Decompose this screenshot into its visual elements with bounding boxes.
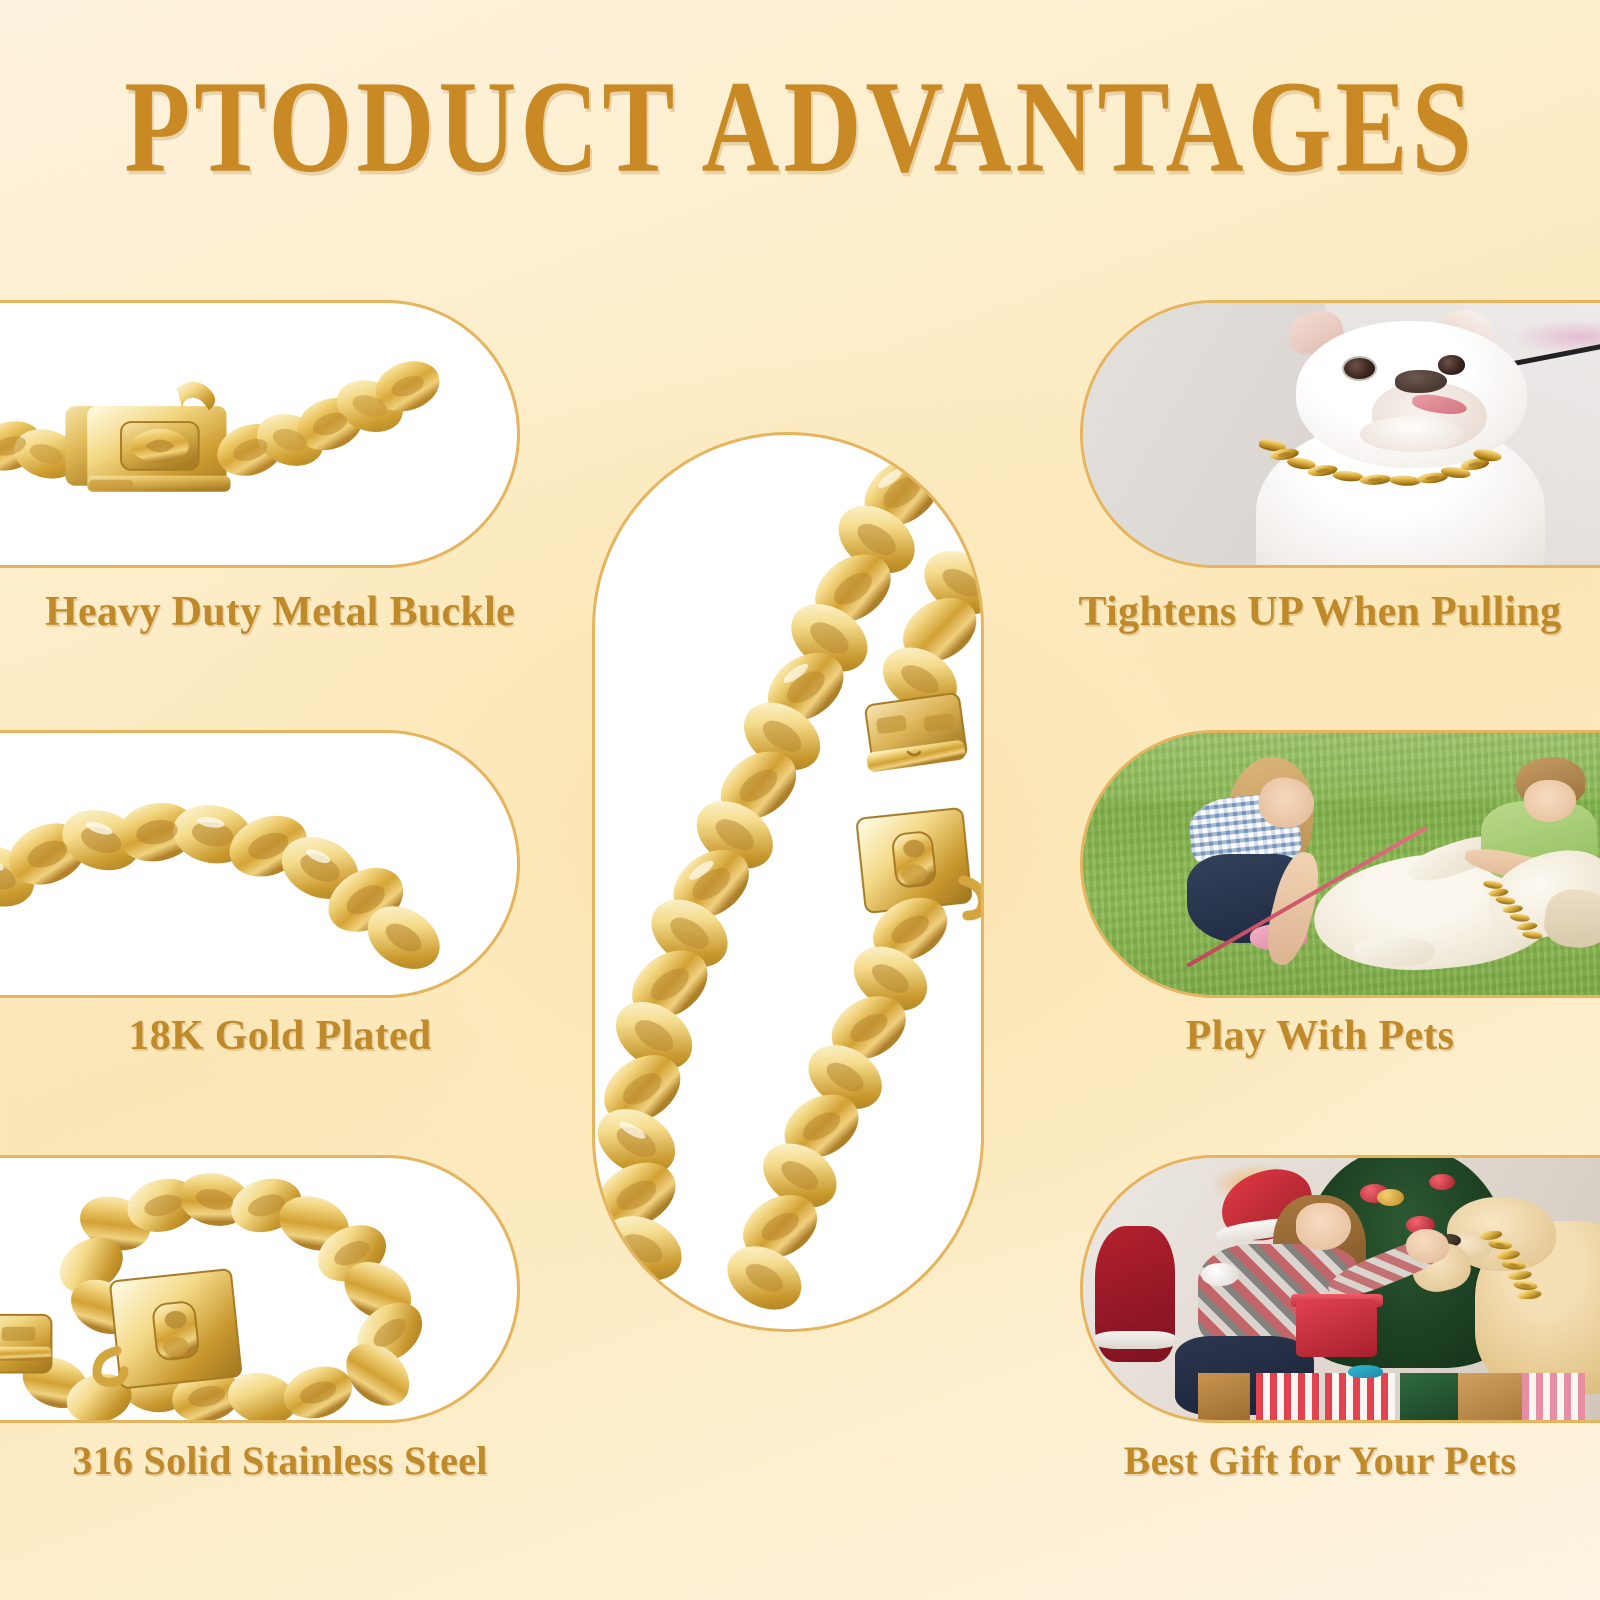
present-pink-striped	[1522, 1373, 1585, 1420]
collar-chain-svg	[1475, 880, 1556, 943]
feature-card-316-solid-stainless-steel[interactable]	[0, 1155, 520, 1423]
feature-caption-heavy-duty-metal-buckle: Heavy Duty Metal Buckle	[0, 588, 560, 637]
gold-chain-collar	[1259, 439, 1513, 489]
product-hero-chain-illustration	[595, 435, 981, 1321]
santa-figurine-trim	[1095, 1331, 1176, 1349]
present-green	[1400, 1373, 1458, 1420]
chain-buckle-illustration	[0, 303, 517, 565]
gold-chain-arc-illustration	[0, 733, 517, 995]
feature-caption-play-with-pets: Play With Pets	[1040, 1012, 1600, 1061]
feature-card-tightens-up-when-pulling[interactable]	[1080, 300, 1600, 568]
gold-chain-collar	[1475, 880, 1556, 943]
present-gold	[1458, 1373, 1521, 1420]
collar-chain-svg	[1475, 1231, 1567, 1299]
product-hero-card[interactable]	[592, 432, 984, 1332]
gift-box-red	[1296, 1299, 1377, 1357]
present-striped-1	[1256, 1373, 1319, 1420]
ornament-red-2	[1429, 1174, 1454, 1190]
dog-hind-leg	[1354, 937, 1435, 966]
present-gold-left	[1198, 1373, 1250, 1420]
chain-loop-lock-illustration	[0, 1158, 517, 1420]
feature-caption-18k-gold-plated: 18K Gold Plated	[0, 1012, 560, 1061]
kids-playing-photo	[1083, 733, 1600, 995]
christmas-photo	[1083, 1158, 1600, 1420]
feature-card-heavy-duty-metal-buckle[interactable]	[0, 300, 520, 568]
page-title: PTODUCT ADVANTAGES	[124, 52, 1475, 203]
feature-card-18k-gold-plated[interactable]	[0, 730, 520, 998]
feature-caption-best-gift-for-your-pets: Best Gift for Your Pets	[1040, 1438, 1600, 1485]
woman-hand	[1406, 1229, 1449, 1263]
feature-card-best-gift-for-your-pets[interactable]	[1080, 1155, 1600, 1423]
gold-chain-collar	[1475, 1231, 1567, 1299]
present-striped-2	[1325, 1373, 1394, 1420]
bulldog-photo	[1083, 303, 1600, 565]
feature-caption-316-solid-stainless-steel: 316 Solid Stainless Steel	[0, 1438, 560, 1485]
dog-eye-right	[1438, 355, 1465, 374]
present-bow-blue	[1348, 1365, 1383, 1378]
feature-caption-tightens-up-when-pulling: Tightens UP When Pulling	[1040, 588, 1600, 637]
feature-card-play-with-pets[interactable]	[1080, 730, 1600, 998]
collar-chain-svg	[1259, 439, 1513, 489]
santa-hat-pom	[1201, 1263, 1239, 1287]
page-header: PTODUCT ADVANTAGES	[0, 62, 1600, 194]
